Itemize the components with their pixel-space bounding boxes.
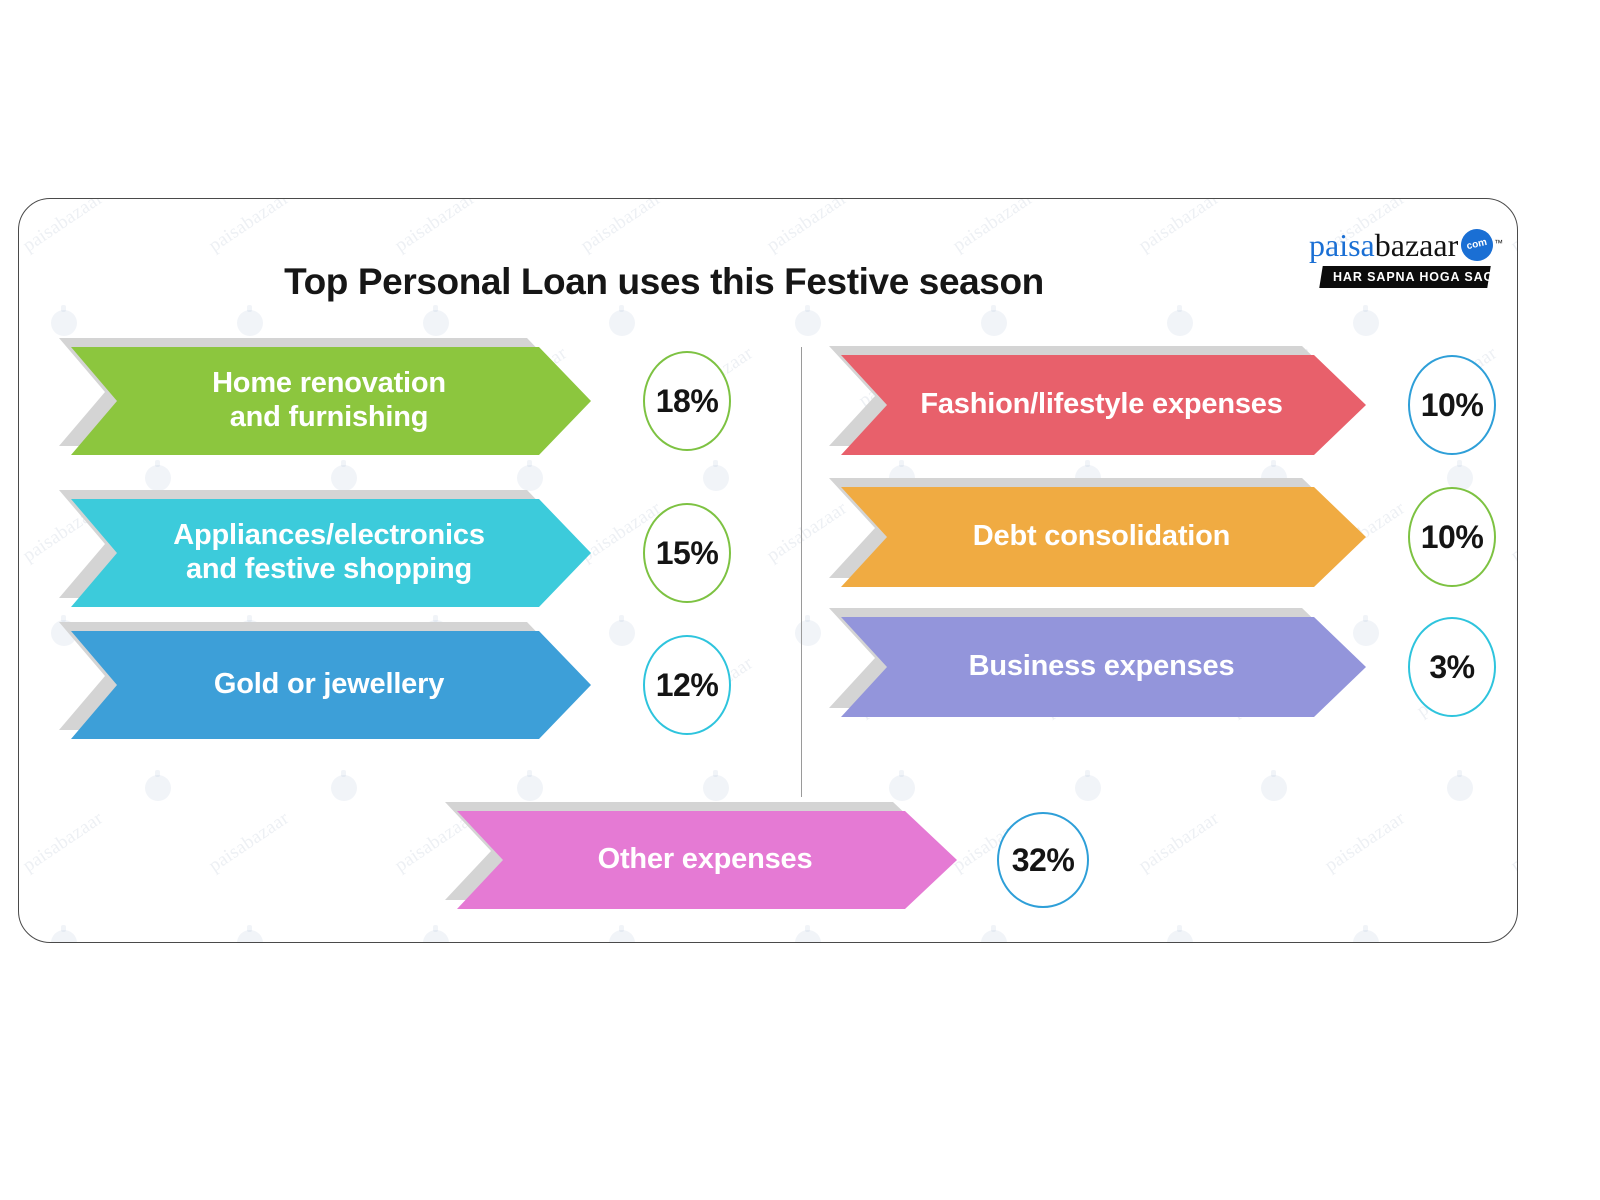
watermark-dot-icon [981,930,1007,942]
percent-badge: 12% [643,635,731,735]
list-item[interactable]: Business expenses 3% [841,617,1496,717]
watermark-dot-icon [51,310,77,336]
percent-badge: 15% [643,503,731,603]
chevron-fill: Fashion/lifestyle expenses [841,355,1366,455]
watermark-dot-icon [517,465,543,491]
column-divider [801,347,802,797]
watermark-text: paisabazaar [205,199,293,257]
percent-badge: 32% [997,812,1089,908]
chevron-fill: Appliances/electronics and festive shopp… [71,499,591,607]
percent-badge: 10% [1408,487,1496,587]
watermark-text: paisabazaar [1507,498,1517,568]
brand-logo: paisabazaar com ™ HAR SAPNA HOGA SACH [1303,227,1489,288]
category-label: Fashion/lifestyle expenses [866,388,1340,422]
watermark-dot-icon [51,930,77,942]
chevron-fill: Other expenses [457,811,957,909]
infographic-card: paisabazaarpaisabazaarpaisabazaarpaisaba… [18,198,1518,943]
category-label: Gold or jewellery [160,668,502,702]
watermark-dot-icon [1353,930,1379,942]
watermark-text: paisabazaar [1507,808,1517,878]
watermark-dot-icon [1447,775,1473,801]
category-label: Other expenses [544,843,871,877]
watermark-dot-icon [703,775,729,801]
watermark-dot-icon [1261,775,1287,801]
watermark-dot-icon [423,310,449,336]
watermark-dot-icon [1353,310,1379,336]
watermark-text: paisabazaar [763,199,851,257]
category-label: Appliances/electronics and festive shopp… [119,519,543,586]
watermark-dot-icon [609,310,635,336]
watermark-dot-icon [331,465,357,491]
list-item[interactable]: Appliances/electronics and festive shopp… [71,499,731,607]
logo-wordmark: paisabazaar com ™ [1303,227,1489,263]
dotcom-badge-icon: com [1458,226,1496,264]
watermark-dot-icon [145,775,171,801]
infographic-canvas: paisabazaarpaisabazaarpaisabazaarpaisaba… [0,0,1600,1200]
chevron-bar[interactable]: Fashion/lifestyle expenses [841,355,1366,455]
logo-tagline-text: HAR SAPNA HOGA SACH [1333,270,1503,284]
chevron-bar[interactable]: Debt consolidation [841,487,1366,587]
percent-value: 10% [1421,519,1484,556]
watermark-text: paisabazaar [19,808,107,878]
percent-value: 3% [1429,649,1474,686]
logo-tagline: HAR SAPNA HOGA SACH [1319,266,1490,288]
watermark-text: paisabazaar [1507,199,1517,257]
percent-badge: 18% [643,351,731,451]
watermark-text: paisabazaar [19,199,107,257]
chevron-fill: Gold or jewellery [71,631,591,739]
percent-value: 18% [656,383,719,420]
list-item[interactable]: Home renovation and furnishing 18% [71,347,731,455]
chevron-bar[interactable]: Appliances/electronics and festive shopp… [71,499,591,607]
watermark-dot-icon [609,930,635,942]
watermark-dot-icon [517,775,543,801]
chevron-fill: Debt consolidation [841,487,1366,587]
watermark-dot-icon [237,930,263,942]
watermark-dot-icon [1167,930,1193,942]
percent-badge: 3% [1408,617,1496,717]
category-label: Home renovation and furnishing [158,367,504,434]
watermark-dot-icon [795,620,821,646]
watermark-dot-icon [795,310,821,336]
watermark-text: paisabazaar [577,199,665,257]
watermark-text: paisabazaar [763,498,851,568]
percent-badge: 10% [1408,355,1496,455]
watermark-dot-icon [703,465,729,491]
category-label: Debt consolidation [919,520,1288,554]
logo-text-bazaar: bazaar [1375,227,1458,263]
percent-value: 15% [656,535,719,572]
watermark-dot-icon [331,775,357,801]
list-item[interactable]: Debt consolidation 10% [841,487,1496,587]
watermark-text: paisabazaar [1135,808,1223,878]
percent-value: 32% [1012,842,1075,879]
trademark-icon: ™ [1494,225,1503,261]
watermark-dot-icon [1075,775,1101,801]
watermark-dot-icon [423,930,449,942]
percent-value: 12% [656,667,719,704]
category-label: Business expenses [915,650,1293,684]
watermark-dot-icon [1167,310,1193,336]
watermark-dot-icon [889,775,915,801]
chevron-bar[interactable]: Home renovation and furnishing [71,347,591,455]
list-item[interactable]: Fashion/lifestyle expenses 10% [841,355,1496,455]
chevron-fill: Business expenses [841,617,1366,717]
list-item[interactable]: Gold or jewellery 12% [71,631,731,739]
chevron-bar[interactable]: Gold or jewellery [71,631,591,739]
watermark-text: paisabazaar [205,808,293,878]
chevron-bar[interactable]: Other expenses [457,811,957,909]
chevron-bar[interactable]: Business expenses [841,617,1366,717]
watermark-text: paisabazaar [391,199,479,257]
watermark-dot-icon [981,310,1007,336]
watermark-text: paisabazaar [1321,808,1409,878]
page-title: Top Personal Loan uses this Festive seas… [19,261,1309,303]
logo-text-paisa: paisa [1309,227,1375,263]
watermark-dot-icon [145,465,171,491]
chevron-fill: Home renovation and furnishing [71,347,591,455]
list-item[interactable]: Other expenses 32% [457,811,1089,909]
percent-value: 10% [1421,387,1484,424]
watermark-text: paisabazaar [949,199,1037,257]
watermark-text: paisabazaar [1135,199,1223,257]
watermark-dot-icon [795,930,821,942]
watermark-dot-icon [237,310,263,336]
